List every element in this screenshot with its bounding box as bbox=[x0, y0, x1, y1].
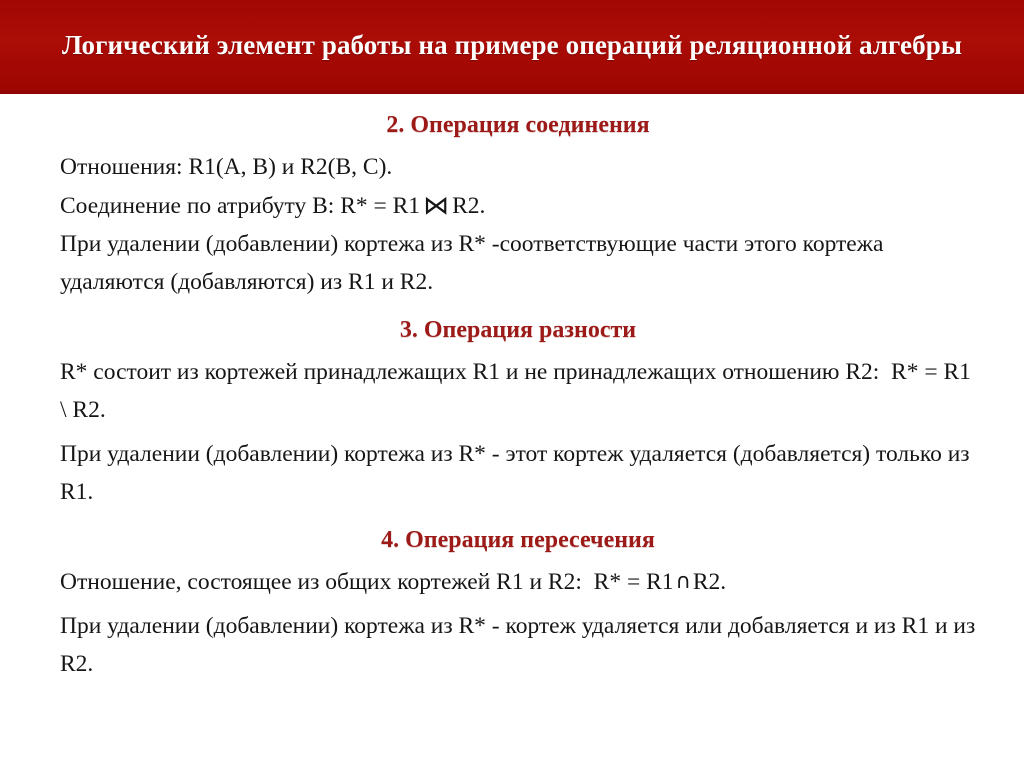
paragraph-inter-definition: Отношение, состоящее из общих кортежей R… bbox=[60, 563, 976, 601]
paragraph-diff-definition: R* состоит из кортежей принадлежащих R1 … bbox=[60, 353, 976, 429]
paragraph-text: При удалении (добавлении) кортежа из R* … bbox=[60, 613, 981, 677]
paragraph-text-tail: R2. bbox=[452, 193, 485, 219]
paragraph-text: Отношение, состоящее из общих кортежей R… bbox=[60, 569, 674, 595]
paragraph-diff-behavior: При удалении (добавлении) кортежа из R* … bbox=[60, 435, 976, 511]
spacer bbox=[60, 511, 976, 523]
page-title: Логический элемент работы на примере опе… bbox=[62, 28, 962, 63]
paragraph-inter-behavior: При удалении (добавлении) кортежа из R* … bbox=[60, 607, 976, 683]
section-heading-intersection: 4. Операция пересечения bbox=[60, 523, 976, 557]
paragraph-text: При удалении (добавлении) кортежа из R* … bbox=[60, 231, 889, 295]
slide: Логический элемент работы на примере опе… bbox=[0, 0, 1024, 767]
section-heading-difference: 3. Операция разности bbox=[60, 313, 976, 347]
paragraph-text-tail: R2. bbox=[693, 569, 726, 595]
slide-content: 2. Операция соединения Отношения: R1(A, … bbox=[60, 108, 976, 683]
spacer bbox=[60, 301, 976, 313]
title-banner-underline bbox=[0, 91, 1024, 94]
intersection-icon: ∩ bbox=[674, 562, 693, 600]
paragraph-text: Отношения: R1(A, B) и R2(B, C). bbox=[60, 154, 392, 180]
paragraph-text: При удалении (добавлении) кортежа из R* … bbox=[60, 441, 975, 505]
join-bowtie-icon: ⋈ bbox=[420, 187, 452, 225]
paragraph-text: R* состоит из кортежей принадлежащих R1 … bbox=[60, 359, 977, 423]
section-heading-join: 2. Операция соединения bbox=[60, 108, 976, 142]
paragraph-join-relations: Отношения: R1(A, B) и R2(B, C). bbox=[60, 148, 976, 186]
paragraph-join-behavior: При удалении (добавлении) кортежа из R* … bbox=[60, 225, 976, 301]
paragraph-text: Соединение по атрибуту B: R* = R1 bbox=[60, 193, 420, 219]
paragraph-join-definition: Соединение по атрибуту B: R* = R1⋈R2. bbox=[60, 186, 976, 225]
title-banner: Логический элемент работы на примере опе… bbox=[0, 0, 1024, 91]
